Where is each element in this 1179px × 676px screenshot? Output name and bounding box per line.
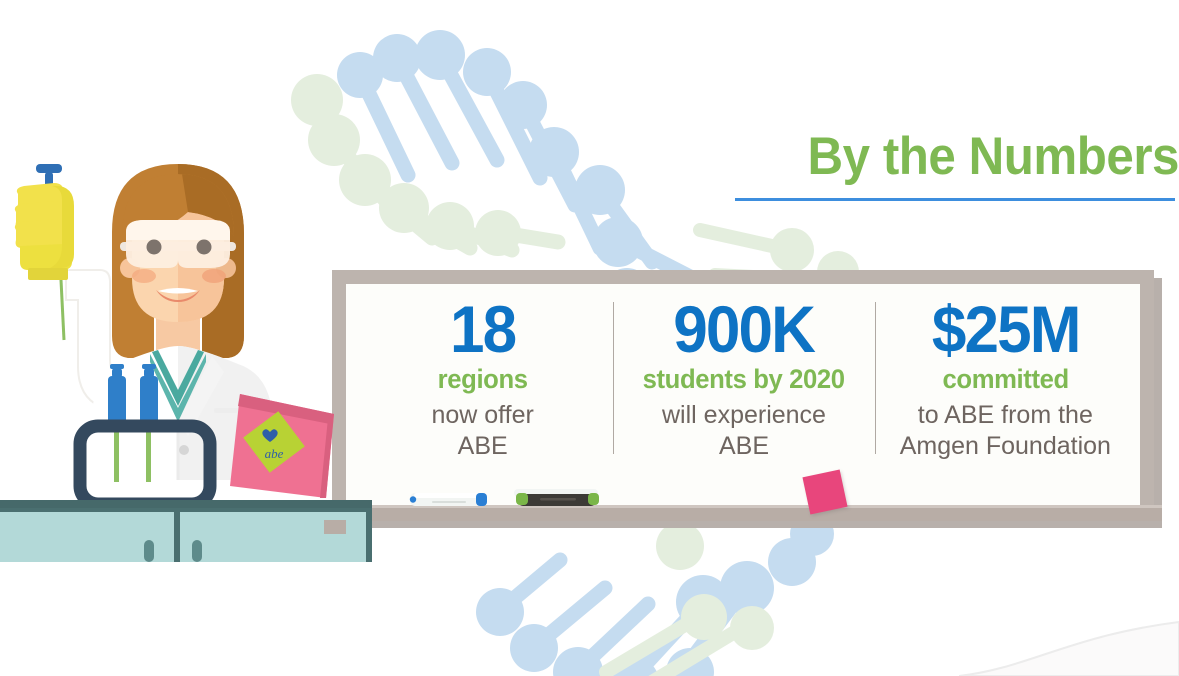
stat-subtitle: students by 2020 [626,364,863,394]
stat-subtitle: committed [887,364,1124,394]
whiteboard-marker-blue-icon [404,489,494,511]
stat-description-line-1: will experience [619,400,868,431]
infographic-canvas: By the Numbers 18 regions now offer ABE … [0,0,1179,676]
stat-number: 900K [627,292,861,366]
svg-text:abe: abe [265,446,284,461]
title-underline [735,198,1175,201]
stat-description-line-2: ABE [358,431,607,462]
stat-number: 18 [365,292,599,366]
stat-card-students: 900K students by 2020 will experience AB… [613,292,874,462]
stat-card-committed: $25M committed to ABE from the Amgen Fou… [875,292,1136,462]
page-title-block: By the Numbers [735,128,1179,201]
whiteboard-marker-black-icon [508,486,608,510]
corner-curve-decoration [959,596,1179,676]
stat-description-line-2: ABE [619,431,868,462]
stat-subtitle: regions [364,364,601,394]
stat-card-regions: 18 regions now offer ABE [352,292,613,462]
lab-bench [0,500,372,562]
stat-description-line-1: to ABE from the [881,400,1130,431]
page-title: By the Numbers [766,128,1179,186]
stat-description-line-2: Amgen Foundation [881,431,1130,462]
stats-row: 18 regions now offer ABE 900K students b… [352,292,1136,504]
notebook-icon: abe [230,394,334,498]
stat-description-line-1: now offer [358,400,607,431]
stat-number: $25M [888,292,1122,366]
glove-icon [15,183,74,280]
sticky-note [802,469,847,514]
